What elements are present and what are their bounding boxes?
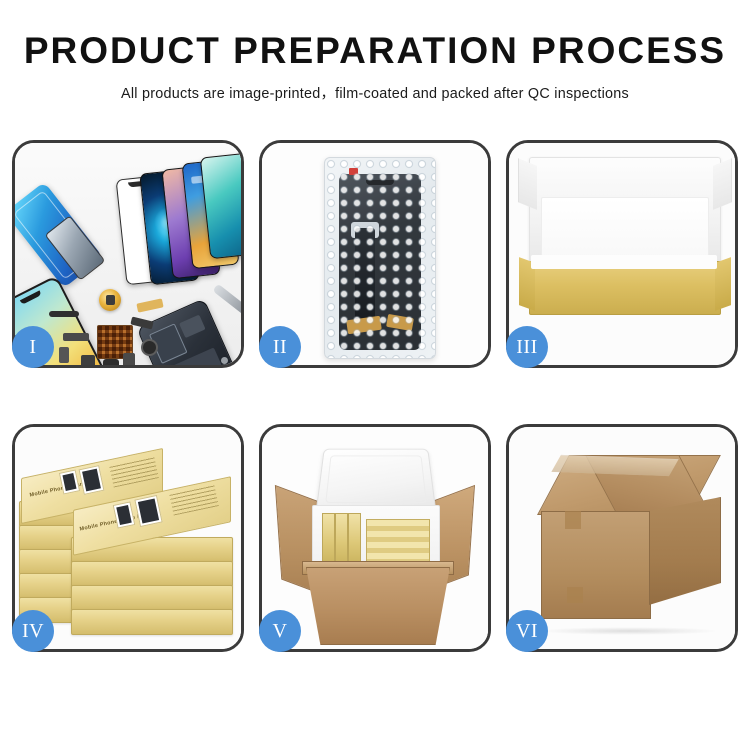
- flex-cable-gold-icon: [136, 298, 163, 312]
- bubble-wrap-bag: [324, 157, 436, 359]
- process-step-3[interactable]: III: [506, 140, 738, 368]
- button-part-icon: [59, 347, 69, 363]
- page-subtitle: All products are image-printed，film-coat…: [0, 82, 750, 103]
- step-badge-6: VI: [506, 610, 548, 652]
- process-step-2[interactable]: II: [259, 140, 491, 368]
- carton-front-face: [541, 511, 651, 619]
- camera-module-icon: [141, 339, 158, 356]
- infographic-page: PRODUCT PREPARATION PROCESS All products…: [0, 0, 750, 750]
- vibrator-icon: [103, 359, 119, 365]
- box-inner-edge: [531, 255, 717, 269]
- header: PRODUCT PREPARATION PROCESS All products…: [0, 0, 750, 103]
- bracket-icon: [123, 353, 135, 365]
- step-badge-1: I: [12, 326, 54, 368]
- step-badge-4: IV: [12, 610, 54, 652]
- carton-tab-lower: [567, 587, 583, 603]
- step-1-image: [15, 143, 241, 365]
- speaker-coil-icon: [99, 289, 121, 311]
- sim-tray-icon: [81, 355, 95, 365]
- scene-bubble-wrapped-lcd: [262, 143, 488, 365]
- connector-icon: [63, 333, 89, 341]
- gold-box-tray: [529, 261, 721, 315]
- step-2-image: [262, 143, 488, 365]
- step-3-image: [509, 143, 735, 365]
- process-step-grid: I II: [12, 140, 738, 652]
- step-4-image: Mobile Phone Spare Parts Mobile Phone Sp…: [15, 427, 241, 649]
- page-title: PRODUCT PREPARATION PROCESS: [0, 32, 750, 71]
- process-step-4[interactable]: Mobile Phone Spare Parts Mobile Phone Sp…: [12, 424, 244, 652]
- process-step-6[interactable]: VI: [506, 424, 738, 652]
- gold-boxes-inside: [320, 513, 430, 565]
- step-badge-5: V: [259, 610, 301, 652]
- process-step-1[interactable]: I: [12, 140, 244, 368]
- carton-side-face: [649, 497, 721, 605]
- step-badge-2: II: [259, 326, 301, 368]
- bubble-texture: [325, 158, 435, 358]
- carton-shadow: [539, 627, 719, 635]
- screw-icon: [221, 357, 228, 364]
- step-badge-3: III: [506, 326, 548, 368]
- flex-strip-icon: [49, 311, 79, 317]
- gold-boxes-stacked-flat: [366, 519, 430, 565]
- step-6-image: [509, 427, 735, 649]
- tweezers-icon: [212, 284, 241, 316]
- process-step-5[interactable]: V: [259, 424, 491, 652]
- carton-front-panel: [306, 567, 450, 645]
- step-5-image: [262, 427, 488, 649]
- scene-phone-parts: [15, 143, 241, 365]
- styrofoam-lid: [316, 449, 437, 512]
- scene-stacked-gold-boxes: Mobile Phone Spare Parts Mobile Phone Sp…: [15, 427, 241, 649]
- scene-carton-with-foam: [262, 427, 488, 649]
- carton-tab-upper: [565, 511, 581, 529]
- scene-open-gold-box: [509, 143, 735, 365]
- scene-sealed-carton: [509, 427, 735, 649]
